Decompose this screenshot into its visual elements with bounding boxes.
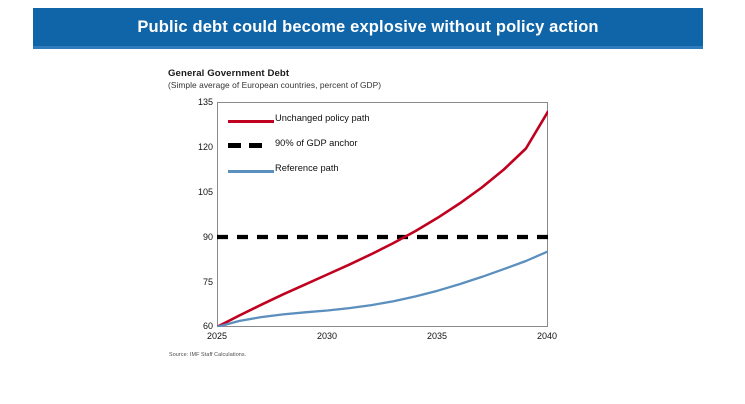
legend-label-unchanged-policy-path: Unchanged policy path — [275, 113, 370, 123]
x-axis-tick-2035: 2035 — [415, 331, 459, 341]
x-axis-tick-2030: 2030 — [305, 331, 349, 341]
legend-label-90-of-gdp-anchor: 90% of GDP anchor — [275, 138, 358, 148]
x-axis-tick-2025: 2025 — [195, 331, 239, 341]
legend-swatch-blue-line-icon — [228, 170, 274, 173]
chart-figure: General Government Debt (Simple average … — [0, 0, 745, 404]
legend-swatch-black-dashed-line-icon — [228, 143, 274, 148]
legend-label-reference-path: Reference path — [275, 163, 339, 173]
source-note: Source: IMF Staff Calculations. — [169, 352, 246, 358]
slide-canvas: Public debt could become explosive witho… — [0, 0, 745, 404]
y-axis-tick-135: 135 — [183, 97, 213, 107]
legend-item-unchanged-policy-path: Unchanged policy path — [228, 110, 438, 135]
series-line-reference-path — [217, 251, 548, 327]
legend-item-reference-path: Reference path — [228, 160, 438, 185]
x-axis-tick-2040: 2040 — [525, 331, 569, 341]
y-axis-tick-60: 60 — [183, 321, 213, 331]
legend-item-90-of-gdp-anchor: 90% of GDP anchor — [228, 135, 438, 160]
chart-legend: Unchanged policy path 90% of GDP anchor … — [228, 110, 438, 185]
y-axis-tick-105: 105 — [183, 187, 213, 197]
y-axis-tick-90: 90 — [183, 232, 213, 242]
chart-subtitle: (Simple average of European countries, p… — [168, 80, 381, 90]
y-axis-tick-120: 120 — [183, 142, 213, 152]
chart-title: General Government Debt — [168, 68, 289, 79]
legend-swatch-red-line-icon — [228, 120, 274, 123]
y-axis-tick-75: 75 — [183, 277, 213, 287]
